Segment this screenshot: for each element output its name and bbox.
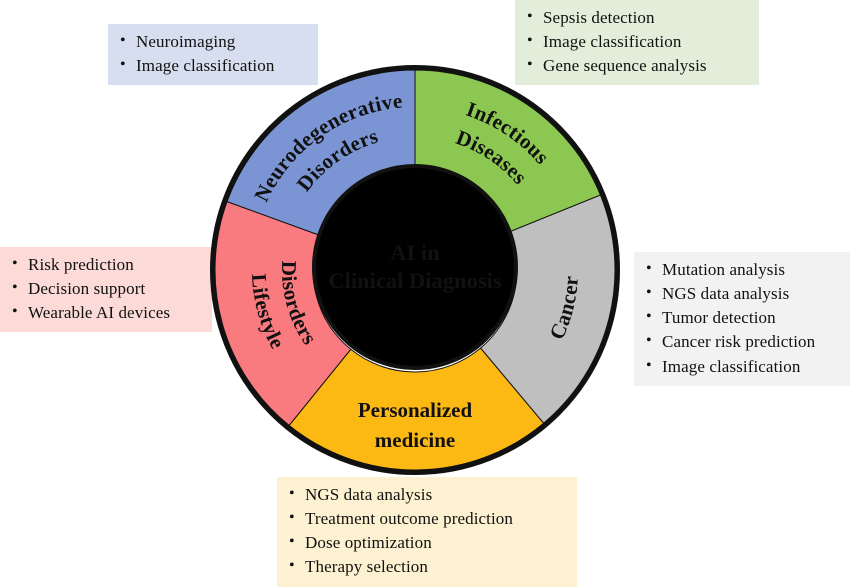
center-title-line1: AI in — [390, 240, 440, 265]
list-item: Image classification — [525, 30, 749, 54]
list-item: Tumor detection — [644, 306, 840, 330]
segment-label-personalized-line2: medicine — [375, 428, 455, 452]
list-item: Therapy selection — [287, 555, 567, 579]
list-item: Risk prediction — [10, 253, 202, 277]
segment-label-personalized-line1: Personalized — [358, 398, 473, 422]
callout-cancer: Mutation analysis NGS data analysis Tumo… — [634, 252, 850, 386]
callout-list-cancer: Mutation analysis NGS data analysis Tumo… — [644, 258, 840, 379]
hub-circle — [314, 166, 516, 368]
callout-personalized-medicine: NGS data analysis Treatment outcome pred… — [277, 477, 577, 587]
list-item: Mutation analysis — [644, 258, 840, 282]
callout-lifestyle-disorders: Risk prediction Decision support Wearabl… — [0, 247, 212, 332]
list-item: Dose optimization — [287, 531, 567, 555]
callout-list-personalized: NGS data analysis Treatment outcome pred… — [287, 483, 567, 580]
list-item: Wearable AI devices — [10, 301, 202, 325]
donut-wheel: InfectiousDiseasesCancerPersonalizedmedi… — [205, 60, 625, 480]
center-title-line2: Clinical Diagnosis — [328, 268, 501, 293]
callout-list-lifestyle: Risk prediction Decision support Wearabl… — [10, 253, 202, 325]
list-item: NGS data analysis — [644, 282, 840, 306]
list-item: Cancer risk prediction — [644, 330, 840, 354]
list-item: Neuroimaging — [118, 30, 308, 54]
diagram-canvas: Neuroimaging Image classification Sepsis… — [0, 0, 850, 588]
list-item: Treatment outcome prediction — [287, 507, 567, 531]
list-item: Decision support — [10, 277, 202, 301]
list-item: Image classification — [644, 355, 840, 379]
list-item: Sepsis detection — [525, 6, 749, 30]
list-item: NGS data analysis — [287, 483, 567, 507]
